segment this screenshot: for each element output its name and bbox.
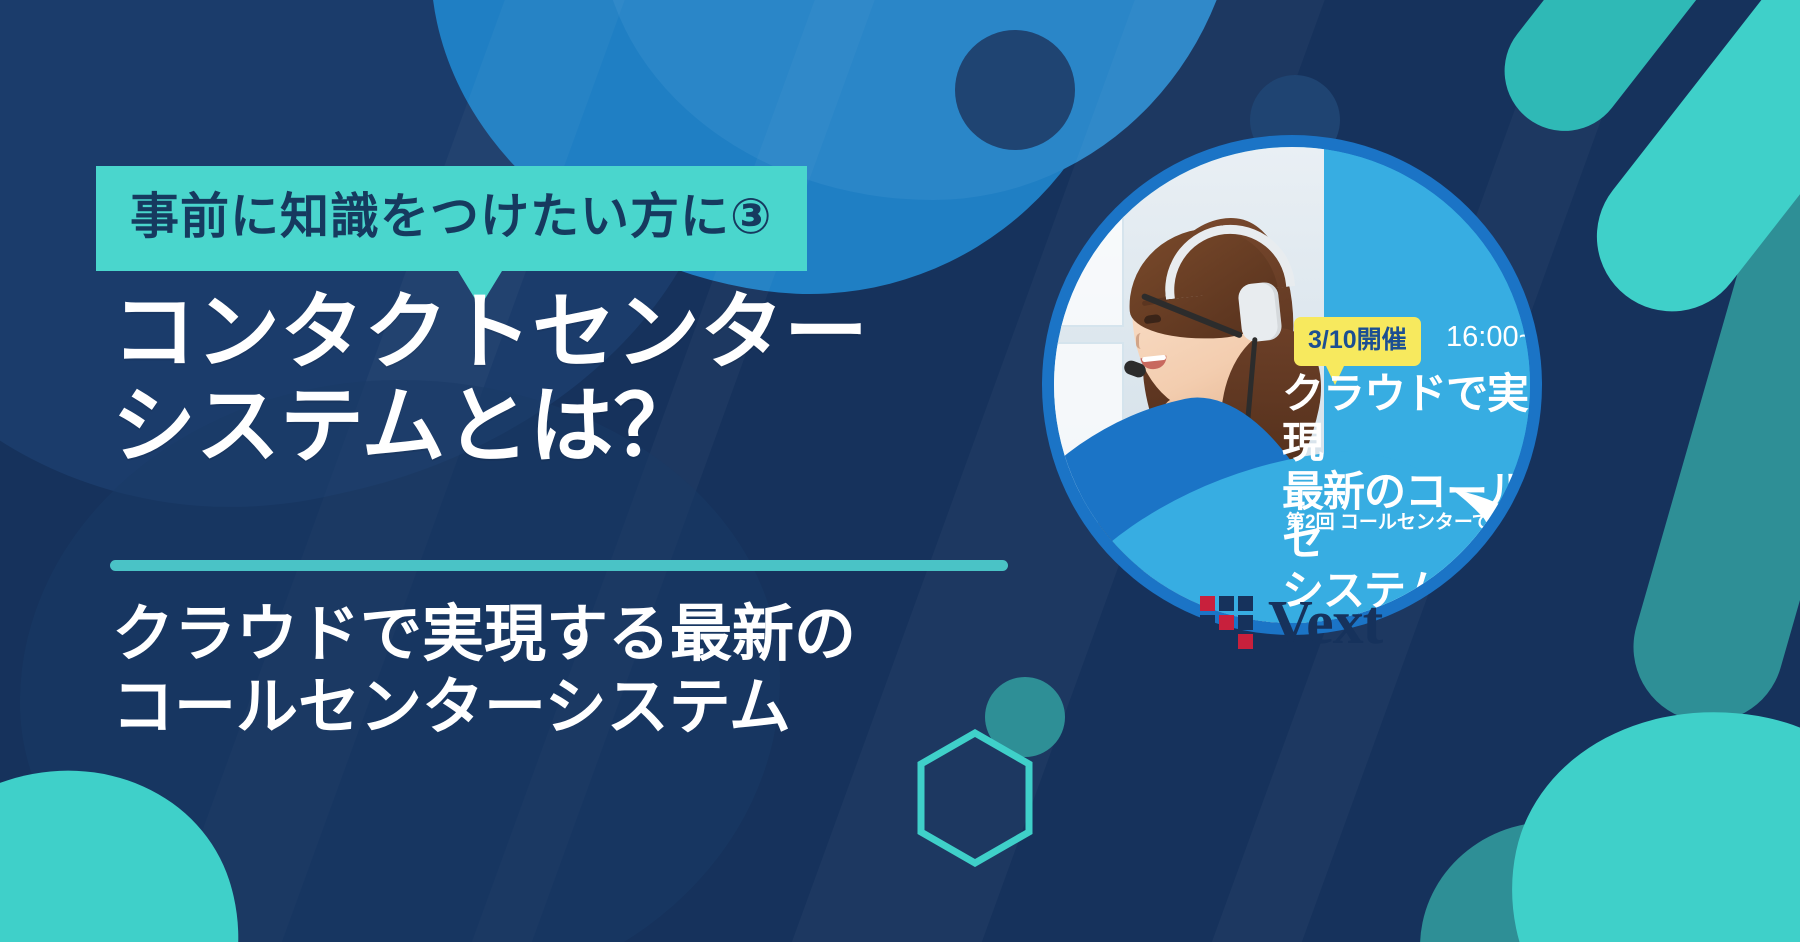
- page-title: コンタクトセンター システムとは？: [112, 285, 868, 473]
- decor-teal-bar-top-right-2: [1480, 0, 1759, 155]
- vext-logo[interactable]: Vext: [1200, 592, 1382, 654]
- headset-earcup-icon: [1237, 281, 1283, 343]
- left-content-column: 事前に知識をつけたい方に③ コンタクトセンター システムとは？ クラウドで実現す…: [96, 0, 1056, 942]
- thumbnail-time: 16:00~17:30: [1446, 323, 1530, 352]
- page-subtitle: クラウドで実現する最新の コールセンターシステム: [112, 598, 856, 744]
- vext-square-mark-icon: [1200, 596, 1254, 650]
- eyebrow-badge: 事前に知識をつけたい方に③: [96, 166, 807, 271]
- decor-teal-blob-bottom-right: [1475, 672, 1800, 942]
- title-divider: [110, 560, 1008, 571]
- thumbnail-headline: クラウドで実現 最新のコールセ システム: [1282, 369, 1530, 615]
- photo-nose: [1136, 333, 1146, 349]
- thumbnail-date-badge: 3/10開催: [1294, 317, 1421, 366]
- thumbnail-session-label: 第2回 コールセンターでの全体業務: [1286, 513, 1530, 532]
- decor-dark-teal-blob-bottom-right: [1420, 822, 1680, 942]
- decor-teal-bar-top-right: [1567, 0, 1800, 342]
- vext-logo-text: Vext: [1268, 592, 1382, 654]
- eyebrow-badge-wrap: 事前に知識をつけたい方に③: [96, 166, 807, 271]
- thumbnail-inner: 3/10開催 16:00~17:30 クラウドで実現 最新のコールセ システム …: [1054, 147, 1530, 623]
- thumbnail-clip: 3/10開催 16:00~17:30 クラウドで実現 最新のコールセ システム …: [1054, 147, 1530, 623]
- decor-dark-teal-bar-right: [1616, 160, 1800, 740]
- webinar-banner: 事前に知識をつけたい方に③ コンタクトセンター システムとは？ クラウドで実現す…: [0, 0, 1800, 942]
- photo-window-pane-1: [1054, 177, 1124, 327]
- seminar-thumbnail[interactable]: 3/10開催 16:00~17:30 クラウドで実現 最新のコールセ システム …: [1042, 135, 1542, 635]
